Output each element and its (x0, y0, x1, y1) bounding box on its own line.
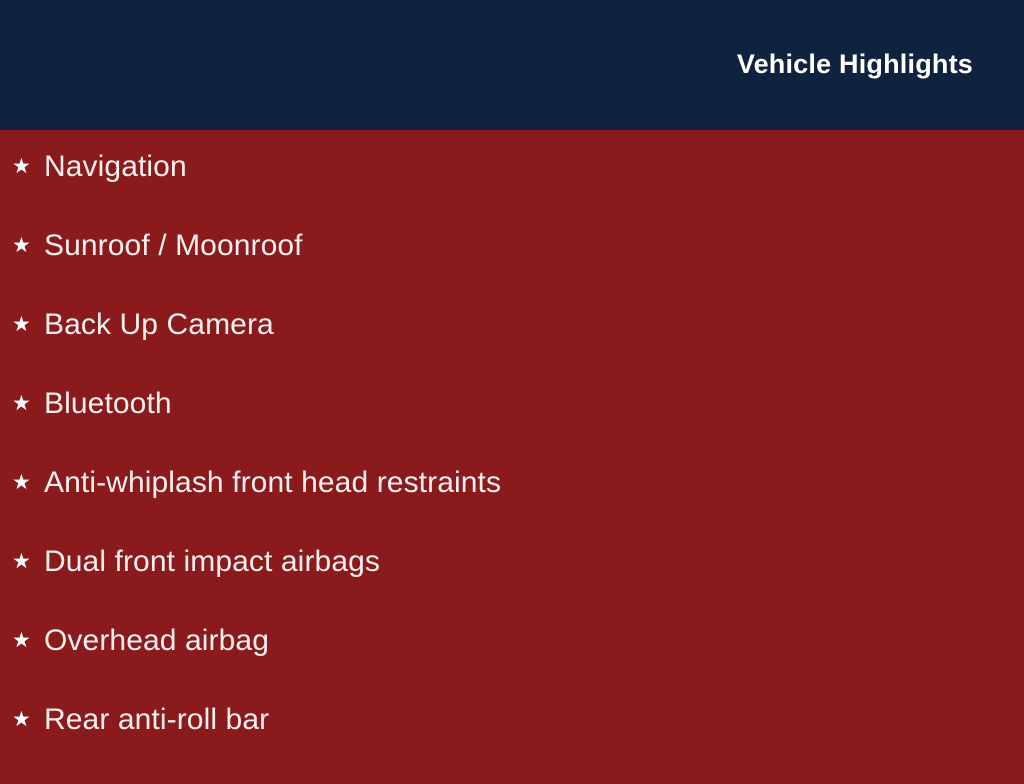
list-item: ★ Back Up Camera (0, 310, 1024, 389)
list-item-label: Anti-whiplash front head restraints (44, 468, 501, 498)
page-title: Vehicle Highlights (737, 50, 973, 80)
star-icon: ★ (12, 709, 44, 730)
vehicle-feature-list: ★ Navigation ★ Sunroof / Moonroof ★ Back… (0, 152, 1024, 784)
star-icon: ★ (12, 156, 44, 177)
star-icon: ★ (12, 472, 44, 493)
vehicle-highlights-slide: Vehicle Highlights ★ Navigation ★ Sunroo… (0, 0, 1024, 768)
slide-content-body: ★ Navigation ★ Sunroof / Moonroof ★ Back… (0, 130, 1024, 768)
list-item: ★ Anti-whiplash front head restraints (0, 468, 1024, 547)
list-item-label: Sunroof / Moonroof (44, 231, 303, 261)
list-item-label: Navigation (44, 152, 187, 182)
star-icon: ★ (12, 551, 44, 572)
star-icon: ★ (12, 314, 44, 335)
list-item-label: Overhead airbag (44, 626, 269, 656)
star-icon: ★ (12, 630, 44, 651)
list-item: ★ Sunroof / Moonroof (0, 231, 1024, 310)
slide-header-band: Vehicle Highlights (0, 0, 1024, 130)
list-item-label: Bluetooth (44, 389, 172, 419)
list-item: ★ Navigation (0, 152, 1024, 231)
star-icon: ★ (12, 235, 44, 256)
list-item: ★ Bluetooth (0, 389, 1024, 468)
star-icon: ★ (12, 393, 44, 414)
list-item-label: Back Up Camera (44, 310, 274, 340)
list-item-label: Dual front impact airbags (44, 547, 380, 577)
list-item: ★ Overhead airbag (0, 626, 1024, 705)
list-item-label: Rear anti-roll bar (44, 705, 269, 735)
list-item: ★ Dual front impact airbags (0, 547, 1024, 626)
list-item: ★ Rear anti-roll bar (0, 705, 1024, 784)
